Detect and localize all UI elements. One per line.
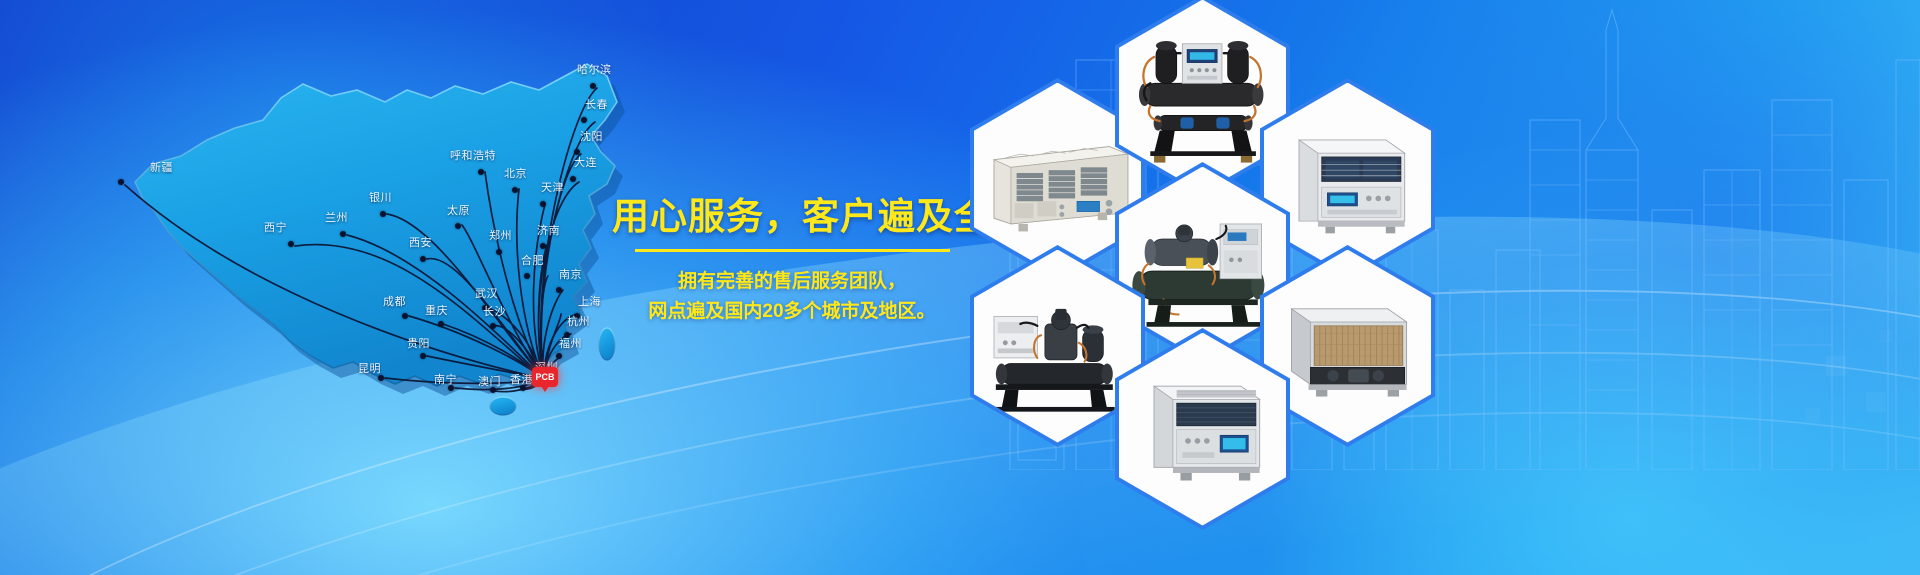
city-dot [556, 287, 562, 293]
decor-square [1866, 392, 1886, 412]
city-label-haerbin: 哈尔滨 [577, 65, 612, 76]
city-label-jinan: 济南 [537, 226, 560, 237]
city-dot [438, 321, 444, 327]
product-hexagon-grid [960, 0, 1920, 575]
city-dot [378, 375, 384, 381]
page-title: 用心服务，客户遍及全国 [612, 196, 972, 237]
city-label-changsha: 长沙 [483, 307, 506, 318]
city-dot [402, 313, 408, 319]
boxchiller-illustration [977, 86, 1137, 271]
city-label-fuzhou: 福州 [559, 339, 582, 350]
city-dot [540, 243, 546, 249]
hub-marker-pcb[interactable]: PCB [532, 367, 558, 387]
city-label-wuhan: 武汉 [475, 289, 498, 300]
city-dot [590, 83, 596, 89]
cubechiller-illustration [1122, 336, 1282, 521]
city-dot [581, 117, 587, 123]
city-dot [574, 149, 580, 155]
city-dot [288, 241, 294, 247]
city-dot [340, 231, 346, 237]
city-label-xian: 西安 [409, 238, 432, 249]
city-label-dalian: 大连 [574, 158, 597, 169]
city-label-xinjiang: 新疆 [150, 163, 173, 174]
city-label-nanjing: 南京 [559, 270, 582, 281]
promo-text-block: 用心服务，客户遍及全国 拥有完善的售后服务团队， 网点遍及国内20多个城市及地区… [612, 196, 972, 326]
city-dot [490, 323, 496, 329]
city-label-hefei: 合肥 [521, 256, 544, 267]
decor-square [1806, 408, 1820, 422]
city-dot [420, 353, 426, 359]
city-dot [540, 201, 546, 207]
city-label-shenyang: 沈阳 [580, 132, 603, 143]
city-dot [556, 353, 562, 359]
title-divider [635, 249, 950, 252]
city-label-beijing: 北京 [504, 169, 527, 180]
city-label-lanzhou: 兰州 [325, 213, 348, 224]
screwchiller-illustration [1122, 3, 1282, 188]
city-label-huhehaote: 呼和浩特 [450, 151, 496, 162]
cabinetchiller-illustration [1267, 86, 1427, 271]
city-label-kunming: 昆明 [358, 364, 381, 375]
condenser-illustration [1267, 253, 1427, 438]
decor-square [1826, 356, 1846, 376]
city-dot [478, 169, 484, 175]
city-label-nanning: 南宁 [434, 375, 457, 386]
city-label-guiyang: 贵阳 [407, 339, 430, 350]
city-dot [455, 223, 461, 229]
city-dot [420, 256, 426, 262]
city-label-yinchuan: 银川 [369, 193, 392, 204]
city-dot [380, 211, 386, 217]
promotional-banner: 新疆 哈尔滨 长春 沈阳 呼和浩特 北京 天津 大连 银川 太原 兰州 西宁 [0, 0, 1920, 575]
city-label-macau: 澳门 [478, 377, 501, 388]
city-label-zhengzhou: 郑州 [489, 231, 512, 242]
city-dot [570, 176, 576, 182]
city-dot [524, 273, 530, 279]
city-label-hangzhou: 杭州 [567, 317, 590, 328]
city-dot [512, 187, 518, 193]
city-label-shanghai: 上海 [578, 297, 601, 308]
city-label-chongqing: 重庆 [425, 306, 448, 317]
subtitle-line-2: 网点遍及国内20多个城市及地区。 [612, 297, 972, 326]
city-label-changchun: 长春 [585, 100, 608, 111]
city-label-hongkong: 香港 [510, 375, 533, 386]
condensingunit-illustration [977, 253, 1137, 438]
decor-square [1880, 330, 1892, 342]
city-label-tianjin: 天津 [541, 183, 564, 194]
city-label-taiyuan: 太原 [447, 206, 470, 217]
openscrew-illustration [1122, 170, 1282, 355]
subtitle-line-1: 拥有完善的售后服务团队， [612, 267, 972, 296]
city-label-xining: 西宁 [264, 223, 287, 234]
city-dot [496, 249, 502, 255]
city-label-chengdu: 成都 [383, 297, 406, 308]
city-dot [118, 179, 124, 185]
